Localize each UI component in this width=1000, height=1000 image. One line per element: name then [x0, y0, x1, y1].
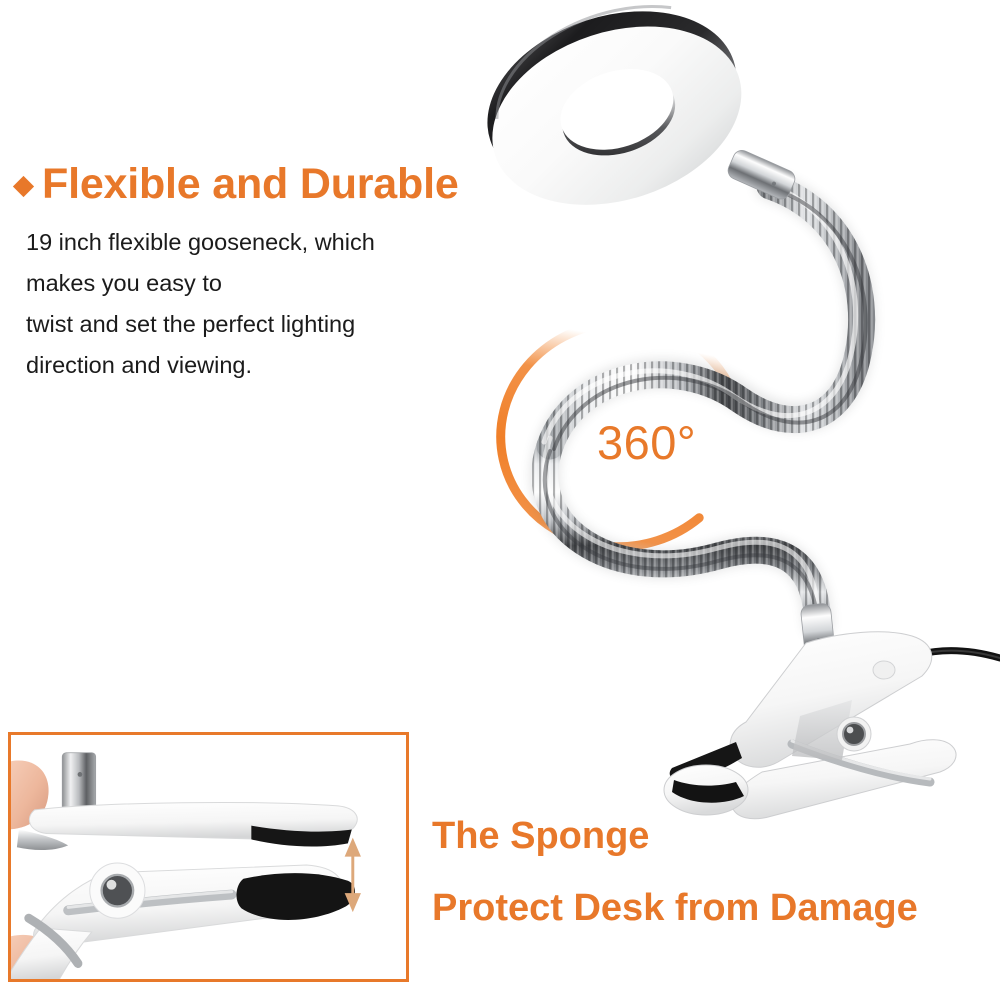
- description-line: direction and viewing.: [26, 345, 375, 386]
- spring-clamp: [664, 632, 956, 819]
- flexible-gooseneck: [544, 182, 866, 629]
- description-line: makes you easy to: [26, 263, 375, 304]
- feature-description: 19 inch flexible gooseneck, which makes …: [26, 222, 375, 386]
- diamond-bullet-icon: [13, 175, 34, 196]
- sponge-feature-text: The Sponge Protect Desk from Damage: [432, 800, 918, 944]
- sponge-line: Protect Desk from Damage: [432, 872, 918, 944]
- pivot-screw: [837, 717, 871, 751]
- pivot-screw: [90, 863, 145, 918]
- sponge-line: The Sponge: [432, 800, 918, 872]
- feature-headline: Flexible and Durable: [16, 163, 459, 206]
- ring-light-head: [464, 0, 765, 235]
- clamp-ferrule: [800, 603, 836, 662]
- rotation-badge-label: 360°: [597, 419, 696, 466]
- clamp-detail-photo: [11, 735, 406, 981]
- feature-headline-text: Flexible and Durable: [42, 163, 459, 206]
- description-line: 19 inch flexible gooseneck, which: [26, 222, 375, 263]
- clamp-detail-inset: 2.36 inch: [8, 732, 409, 982]
- head-ferrule: [725, 148, 797, 202]
- description-line: twist and set the perfect lighting: [26, 304, 375, 345]
- power-cord: [886, 651, 1000, 668]
- mount-tube: [62, 753, 95, 814]
- product-infographic: Flexible and Durable 19 inch flexible go…: [0, 0, 1000, 1000]
